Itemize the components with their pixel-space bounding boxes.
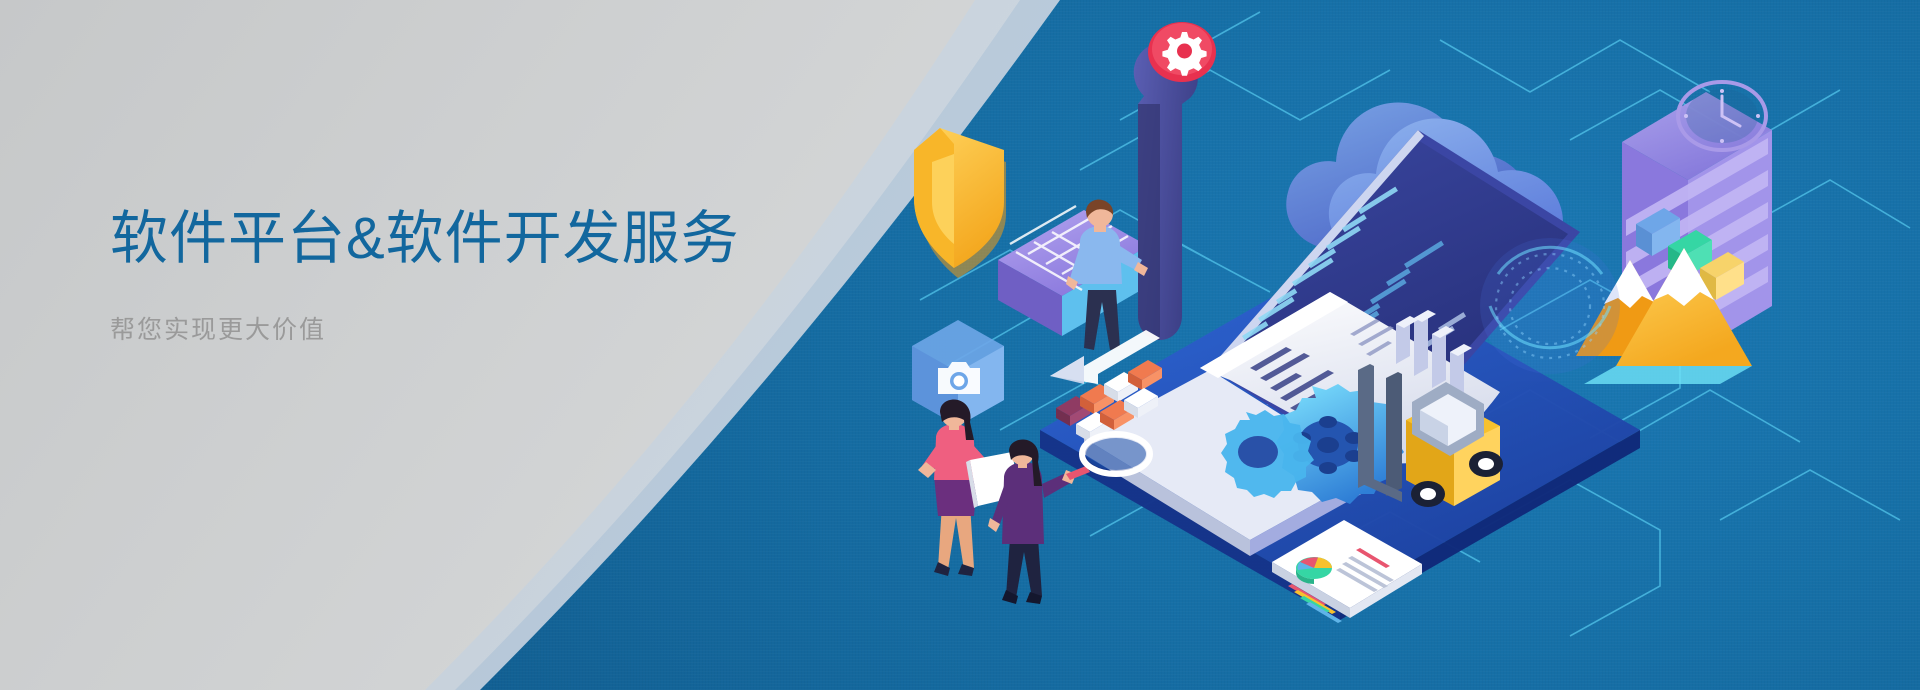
hero-banner: 软件平台&软件开发服务 帮您实现更大价值 [0,0,1920,690]
wrench-icon [1134,43,1198,340]
page-subtitle: 帮您实现更大价值 [110,310,740,346]
tech-ring-icon [1480,238,1620,374]
gear-badge-icon [1148,22,1216,82]
banner-text-block: 软件平台&软件开发服务 帮您实现更大价值 [110,205,740,346]
shield-icon [914,128,1006,278]
clock-icon [1678,82,1766,150]
hero-illustration [880,0,1920,690]
page-title: 软件平台&软件开发服务 [110,205,740,272]
